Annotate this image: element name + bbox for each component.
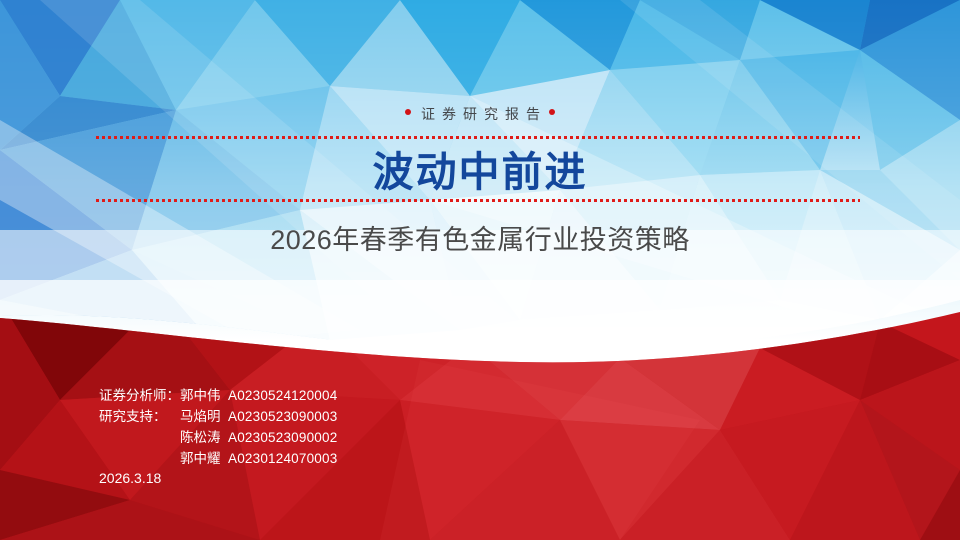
page-subtitle: 2026年春季有色金属行业投资策略 (0, 218, 960, 257)
analyst-license-code: A0230124070003 (228, 448, 337, 469)
analyst-row: 证券分析师： 郭中伟 A0230524120004 (99, 385, 337, 406)
analyst-name: 陈松涛 (180, 427, 228, 448)
analyst-credits: 证券分析师： 郭中伟 A0230524120004 研究支持： 马焰明 A023… (99, 385, 337, 469)
analyst-license-code: A0230524120004 (228, 385, 337, 406)
analyst-name: 马焰明 (180, 406, 228, 427)
eyebrow-text: 证券研究报告 (421, 106, 547, 122)
divider-dotted-bottom (96, 199, 860, 202)
bullet-dot-right-icon (549, 109, 555, 115)
analyst-row: 郭中耀 A0230124070003 (99, 448, 337, 469)
analyst-role-label: 研究支持： (99, 406, 180, 427)
analyst-license-code: A0230523090003 (228, 406, 337, 427)
slide-root: 证券研究报告 波动中前进 2026年春季有色金属行业投资策略 证券分析师： 郭中… (0, 0, 960, 540)
analyst-name: 郭中耀 (180, 448, 228, 469)
bullet-dot-left-icon (405, 109, 411, 115)
eyebrow-label: 证券研究报告 (0, 104, 960, 124)
report-date: 2026.3.18 (99, 470, 161, 486)
analyst-role-label: 证券分析师： (99, 385, 180, 406)
analyst-row: 研究支持： 马焰明 A0230523090003 (99, 406, 337, 427)
page-title: 波动中前进 (0, 148, 960, 196)
divider-dotted-top (96, 136, 860, 139)
analyst-row: 陈松涛 A0230523090002 (99, 427, 337, 448)
analyst-name: 郭中伟 (180, 385, 228, 406)
analyst-license-code: A0230523090002 (228, 427, 337, 448)
